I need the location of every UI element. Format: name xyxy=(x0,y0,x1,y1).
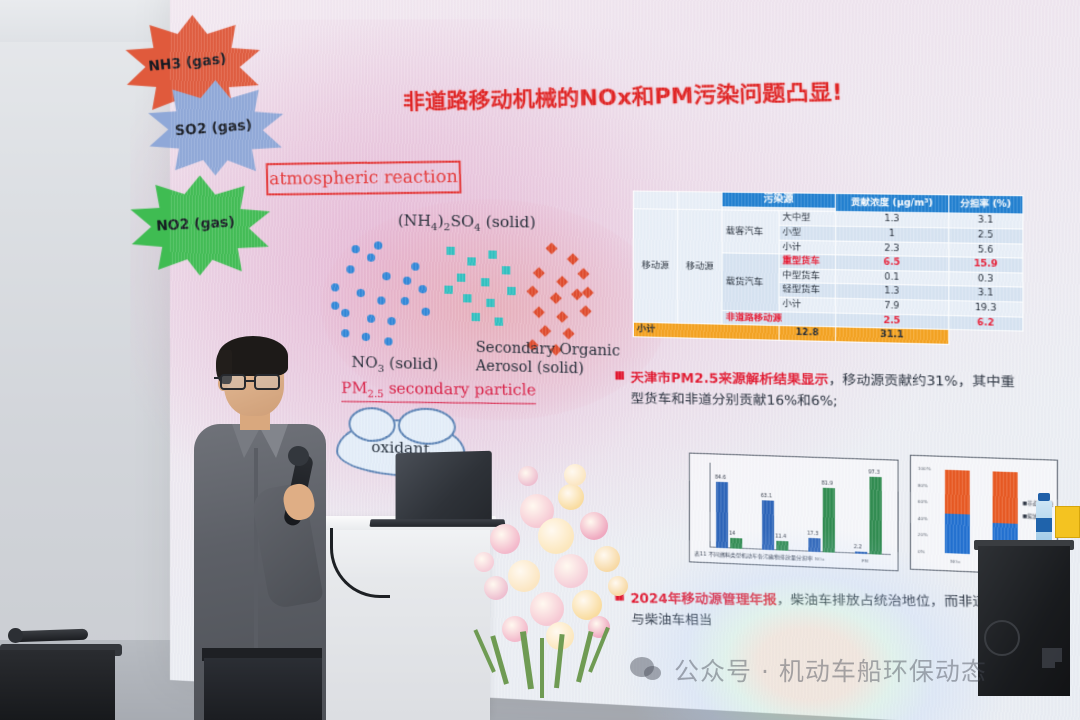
soa-label: Secondary OrganicAerosol (solid) xyxy=(476,340,635,380)
flower-bloom xyxy=(508,560,540,592)
y-tick-label: 0% xyxy=(918,549,925,555)
wechat-icon xyxy=(630,657,664,683)
flower-bloom xyxy=(580,512,608,540)
flower-bloom xyxy=(518,466,538,486)
particle-dot xyxy=(467,257,475,265)
particle-dot xyxy=(411,262,419,270)
stacked-bar-lower xyxy=(945,513,970,554)
nitrate-label: NO3 (solid) xyxy=(352,353,439,377)
particle-dot xyxy=(422,308,430,316)
particle-dot xyxy=(463,294,471,302)
presenter-trousers xyxy=(204,658,322,720)
bar-value-label: 11.4 xyxy=(775,535,786,541)
flower-stem xyxy=(490,635,509,684)
particle-dot xyxy=(401,297,409,305)
flower-bloom xyxy=(594,546,620,572)
flower-bloom xyxy=(538,518,574,554)
left-speaker xyxy=(0,650,115,720)
particle-dot xyxy=(377,296,385,304)
flower-stem xyxy=(576,631,593,683)
flower-bloom xyxy=(530,592,564,626)
x-tick-label: NOx xyxy=(951,559,961,565)
presenter-glasses xyxy=(220,374,288,391)
particle-dot xyxy=(362,333,370,341)
particle-dot xyxy=(502,266,510,274)
particle-dot xyxy=(507,287,515,295)
bar-value-label: 2.2 xyxy=(854,545,862,551)
watermark-text: 公众号 · 机动车船环保动态 xyxy=(674,652,987,688)
particle-dot xyxy=(481,278,489,286)
particle-dot xyxy=(357,289,365,297)
flower-bloom xyxy=(474,552,494,572)
bar-value-label: 63.1 xyxy=(761,494,772,500)
speaker-cone-icon xyxy=(984,620,1020,656)
pollution-source-table: 污染源贡献浓度 (μg/m³)分担率 (%)移动源移动源载客汽车大中型1.33.… xyxy=(633,191,1024,347)
y-tick-label: 40% xyxy=(918,516,928,522)
bar-value-label: 97.3 xyxy=(868,470,879,476)
atmospheric-reaction-label: atmospheric reaction xyxy=(269,167,458,190)
photo-scene: 号 06 非道路移动机械的NOx和PM污染问题凸显! atmospheric r… xyxy=(0,0,1080,720)
x-tick-label: NOx xyxy=(815,556,824,562)
yellow-warning-sign xyxy=(1055,506,1080,538)
right-speaker xyxy=(978,546,1070,696)
glasses-bridge xyxy=(246,380,254,382)
bar-value-label: 17.3 xyxy=(807,532,818,538)
particle-dot xyxy=(341,309,349,317)
particle-dot xyxy=(472,313,480,321)
stacked-bar-upper xyxy=(993,471,1018,523)
particle-dot xyxy=(444,286,452,294)
bar xyxy=(808,538,820,552)
bullet-2-emphasis: 2024年移动源管理年报 xyxy=(630,590,777,607)
flower-bloom xyxy=(554,554,588,588)
left-chart-bars: 84.663.117.32.21411.481.997.3COHCNOxPM xyxy=(690,454,898,461)
particle-dot xyxy=(403,277,411,285)
particle-dot xyxy=(495,317,503,325)
y-tick-label: 100% xyxy=(918,466,931,472)
y-tick-label: 80% xyxy=(918,482,928,488)
glasses-lens-right xyxy=(254,374,280,390)
particle-dot xyxy=(488,250,496,258)
flower-bloom xyxy=(490,524,520,554)
slide-title: 非道路移动机械的NOx和PM污染问题凸显! xyxy=(403,72,967,116)
particle-dot xyxy=(374,241,382,249)
atmospheric-reaction-box: atmospheric reaction xyxy=(266,160,462,195)
glasses-temple xyxy=(214,377,222,379)
bar-value-label: 81.9 xyxy=(822,481,833,487)
flower-bloom xyxy=(608,576,628,596)
y-tick-label: 20% xyxy=(918,532,928,538)
particle-dot xyxy=(457,274,465,282)
particle-dot xyxy=(418,285,426,293)
watermark: 公众号 · 机动车船环保动态 xyxy=(630,652,987,688)
particle-dot xyxy=(387,317,395,325)
y-axis xyxy=(710,463,711,548)
spare-microphone-head xyxy=(8,628,23,643)
bullet-marker-icon xyxy=(615,371,624,379)
particle-dot xyxy=(352,245,360,253)
particle-dot xyxy=(384,337,392,345)
particle-dot xyxy=(486,299,494,307)
flower-stem xyxy=(540,638,544,698)
particle-dot xyxy=(331,283,339,291)
flower-bloom xyxy=(484,576,508,600)
ammonium-sulfate-label: (NH4)2SO4 (solid) xyxy=(398,211,536,235)
particle-dot xyxy=(346,265,354,273)
flower-bloom xyxy=(558,484,584,510)
presenter-shirt-placket xyxy=(254,448,258,658)
flower-stem xyxy=(520,631,534,689)
bar xyxy=(762,500,774,550)
right-chart-bars: NOxPM0%20%40%60%80%100%■非道路机械■柴油车 xyxy=(911,456,1057,461)
bar xyxy=(730,537,742,549)
pm25-secondary-particle-label: PM2.5 secondary particle xyxy=(341,379,536,405)
particle-dot xyxy=(367,315,375,323)
x-tick-label: PM xyxy=(862,558,869,564)
particle-dot xyxy=(447,247,455,255)
particle-dot xyxy=(367,253,375,261)
flower-bloom xyxy=(564,464,586,486)
y-tick-label: 60% xyxy=(918,499,928,505)
bullet-1: 天津市PM2.5来源解析结果显示，移动源贡献约31%，其中重型货车和非道分别贡献… xyxy=(615,367,1026,414)
water-bottle-cap xyxy=(1038,493,1050,501)
water-bottle-label xyxy=(1036,518,1052,532)
bar xyxy=(823,487,835,552)
flower-arrangement xyxy=(468,456,648,686)
presenter xyxy=(188,336,338,720)
bar-value-label: 84.6 xyxy=(715,475,726,481)
bar xyxy=(716,481,728,548)
stacked-bar-upper xyxy=(945,470,970,514)
bar-value-label: 14 xyxy=(729,531,735,537)
particle-dot xyxy=(331,302,339,310)
bullet-1-emphasis: 天津市PM2.5来源解析结果显示 xyxy=(630,369,828,387)
glasses-lens-left xyxy=(220,374,246,390)
bar xyxy=(869,477,881,555)
bar xyxy=(776,541,788,551)
pollution-source-table-wrap: 污染源贡献浓度 (μg/m³)分担率 (%)移动源移动源载客汽车大中型1.33.… xyxy=(633,191,1024,347)
table-body: 污染源贡献浓度 (μg/m³)分担率 (%)移动源移动源载客汽车大中型1.33.… xyxy=(633,191,1023,346)
bar xyxy=(855,551,867,554)
particle-dot xyxy=(341,329,349,337)
particle-dot xyxy=(382,272,390,280)
